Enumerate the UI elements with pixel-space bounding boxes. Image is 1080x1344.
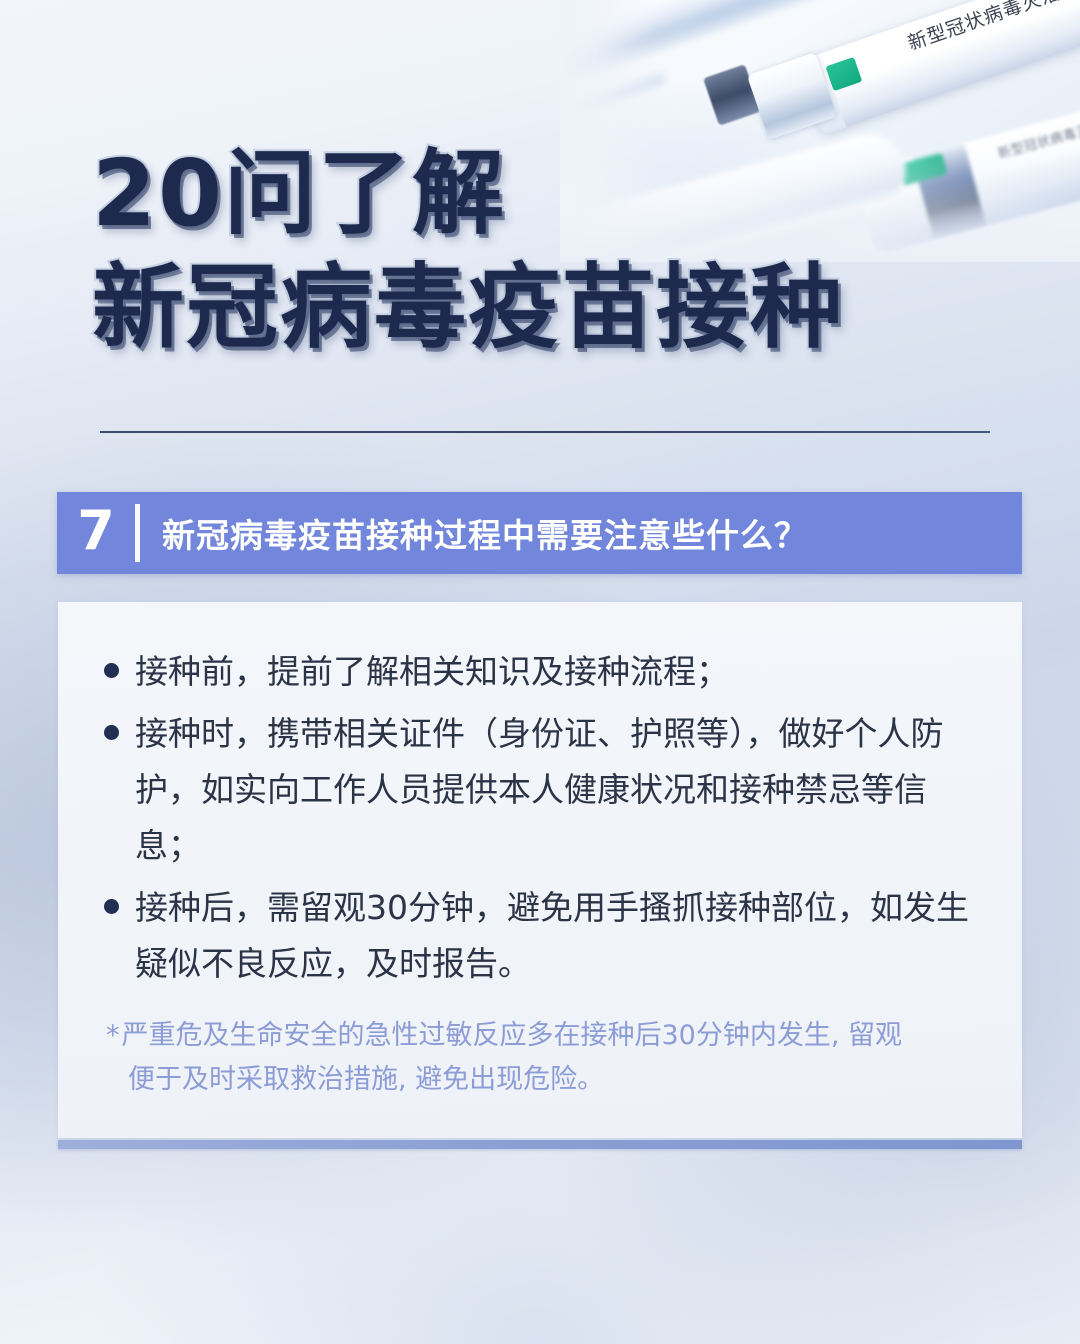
headline-divider-rule	[100, 431, 990, 433]
question-title: 新冠病毒疫苗接种过程中需要注意些什么？	[162, 509, 808, 557]
headline-line-2: 新冠病毒疫苗接种	[92, 262, 992, 354]
footnote-line-1: 严重危及生命安全的急性过敏反应多在接种后30分钟内发生, 留观	[122, 1020, 903, 1051]
footnote-asterisk: *	[106, 1020, 120, 1051]
bullet-dot-icon	[104, 725, 119, 740]
bullet-text: 接种后，需留观30分钟，避免用手搔抓接种部位，如发生疑似不良反应，及时报告。	[135, 880, 986, 992]
footnote: *严重危及生命安全的急性过敏反应多在接种后30分钟内发生, 留观 便于及时采取救…	[104, 1014, 986, 1102]
list-item: 接种后，需留观30分钟，避免用手搔抓接种部位，如发生疑似不良反应，及时报告。	[104, 880, 986, 992]
bullet-text: 接种前，提前了解相关知识及接种流程；	[135, 644, 729, 700]
bullet-dot-icon	[104, 663, 119, 678]
answer-content-panel: 接种前，提前了解相关知识及接种流程； 接种时，携带相关证件（身份证、护照等），做…	[58, 602, 1022, 1138]
headline-line-1: 20问了解	[92, 148, 992, 240]
poster-headline: 20问了解 新冠病毒疫苗接种	[92, 148, 992, 354]
question-number: 7	[57, 504, 135, 562]
bullet-text: 接种时，携带相关证件（身份证、护照等），做好个人防护，如实向工作人员提供本人健康…	[135, 706, 986, 874]
footnote-line-2: 便于及时采取救治措施, 避免出现危险。	[106, 1058, 986, 1102]
answer-bullet-list: 接种前，提前了解相关知识及接种流程； 接种时，携带相关证件（身份证、护照等），做…	[104, 644, 986, 1102]
list-item: 接种时，携带相关证件（身份证、护照等），做好个人防护，如实向工作人员提供本人健康…	[104, 706, 986, 874]
poster-root: 新型冠状病毒灭活疫苗 新型冠状病毒灭活疫苗 20问了解 新冠病毒疫苗接种 7 新…	[0, 0, 1080, 1344]
list-item: 接种前，提前了解相关知识及接种流程；	[104, 644, 986, 700]
question-divider	[135, 504, 140, 562]
question-header-bar: 7 新冠病毒疫苗接种过程中需要注意些什么？	[57, 492, 1022, 574]
bullet-dot-icon	[104, 899, 119, 914]
panel-bottom-accent-bar	[58, 1140, 1022, 1149]
